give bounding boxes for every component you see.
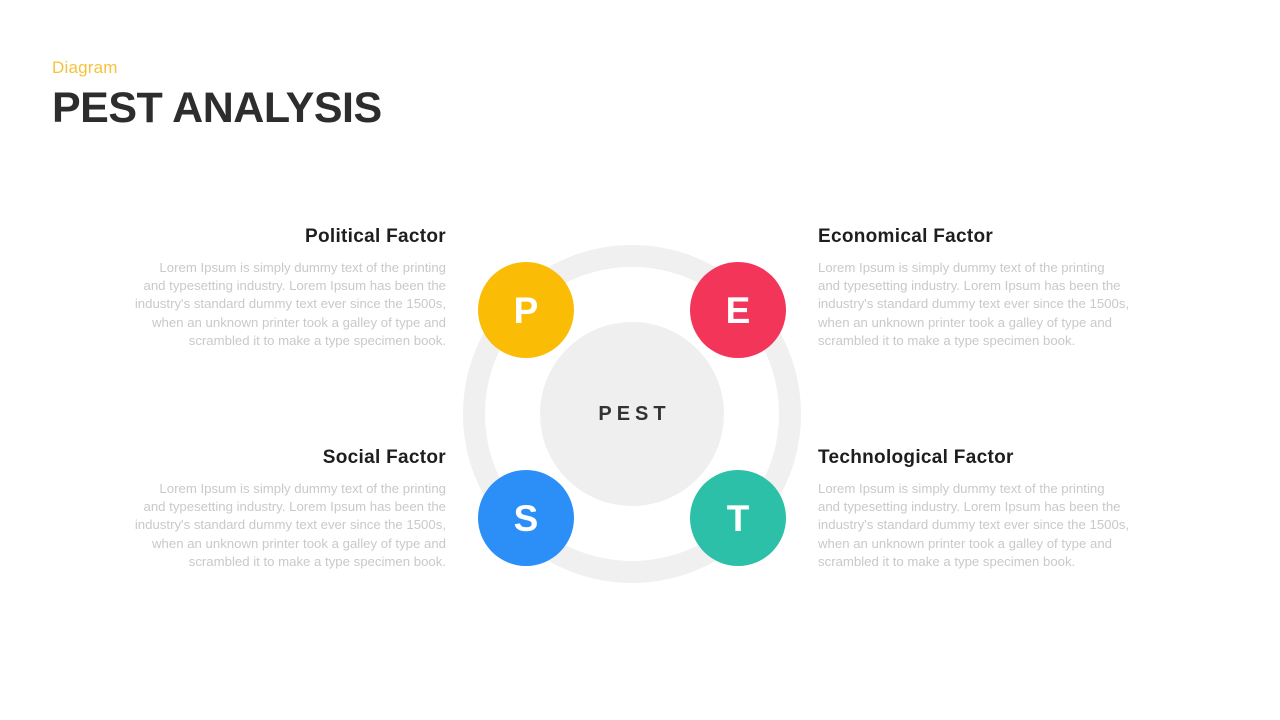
factor-body-economical: Lorem Ipsum is simply dummy text of the … (818, 259, 1130, 350)
pest-node-letter-p: P (514, 292, 539, 329)
pest-node-political[interactable]: P (478, 262, 574, 358)
pest-node-letter-t: T (727, 500, 750, 537)
pest-node-letter-s: S (514, 500, 539, 537)
pest-diagram: PEST P E S T (462, 244, 802, 584)
pest-node-letter-e: E (726, 292, 751, 329)
inner-center-circle (540, 322, 724, 506)
page-title: PEST ANALYSIS (52, 82, 382, 134)
page-kicker: Diagram (52, 58, 382, 78)
pest-node-technological[interactable]: T (690, 470, 786, 566)
pest-node-economical[interactable]: E (690, 262, 786, 358)
factor-block-technological: Technological Factor Lorem Ipsum is simp… (818, 447, 1130, 571)
page-header: Diagram PEST ANALYSIS (52, 58, 382, 134)
factor-title-economical: Economical Factor (818, 226, 1130, 248)
factor-block-social: Social Factor Lorem Ipsum is simply dumm… (134, 447, 446, 571)
factor-block-economical: Economical Factor Lorem Ipsum is simply … (818, 226, 1130, 350)
factor-title-technological: Technological Factor (818, 447, 1130, 469)
factor-body-social: Lorem Ipsum is simply dummy text of the … (134, 480, 446, 571)
factor-title-political: Political Factor (134, 226, 446, 248)
factor-body-technological: Lorem Ipsum is simply dummy text of the … (818, 480, 1130, 571)
factor-title-social: Social Factor (134, 447, 446, 469)
factor-body-political: Lorem Ipsum is simply dummy text of the … (134, 259, 446, 350)
factor-block-political: Political Factor Lorem Ipsum is simply d… (134, 226, 446, 350)
pest-node-social[interactable]: S (478, 470, 574, 566)
